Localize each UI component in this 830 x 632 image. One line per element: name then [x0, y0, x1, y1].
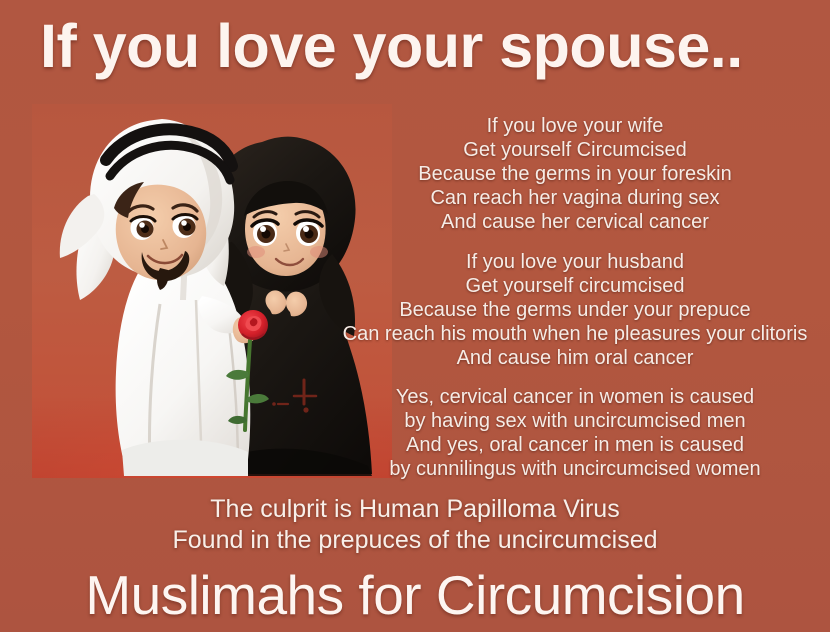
verse-line: If you love your wife: [340, 114, 810, 138]
footer-tagline: Muslimahs for Circumcision: [15, 562, 815, 628]
verse-line: Get yourself Circumcised: [340, 138, 810, 162]
woman-cheek-left: [247, 246, 265, 258]
verse-line: And cause him oral cancer: [340, 346, 810, 370]
verse-line: Because the germs under your prepuce: [340, 298, 810, 322]
closing-line: The culprit is Human Papilloma Virus: [15, 494, 815, 525]
couple-illustration-svg: [32, 104, 392, 478]
verse-line: by cunnilingus with uncircumcised women: [340, 457, 810, 481]
couple-illustration: [32, 104, 392, 478]
woman-eye-highlight-right: [303, 226, 309, 232]
verse-line: Can reach his mouth when he pleasures yo…: [340, 322, 810, 346]
verse-line: by having sex with uncircumcised men: [340, 409, 810, 433]
closing-statement: The culprit is Human Papilloma Virus Fou…: [15, 494, 815, 556]
verse-line: Can reach her vagina during sex: [340, 186, 810, 210]
verse-line: Yes, cervical cancer in women is caused: [340, 385, 810, 409]
closing-line: Found in the prepuces of the uncircumcis…: [15, 525, 815, 556]
verse-line: If you love your husband: [340, 250, 810, 274]
verse-line: Because the germs in your foreskin: [340, 162, 810, 186]
man-eye-highlight-left: [139, 222, 145, 228]
verse-wife: If you love your wife Get yourself Circu…: [340, 114, 810, 234]
poster-image: If you love your spouse..: [0, 0, 830, 632]
verse-husband: If you love your husband Get yourself ci…: [340, 250, 810, 370]
page-title: If you love your spouse..: [40, 8, 800, 84]
verse-line: Get yourself circumcised: [340, 274, 810, 298]
woman-eye-highlight-left: [260, 226, 266, 232]
woman-cheek-right: [310, 246, 328, 258]
verse-conclusion: Yes, cervical cancer in women is caused …: [340, 385, 810, 481]
man-eye-highlight-right: [181, 220, 187, 226]
verse-line: And cause her cervical cancer: [340, 210, 810, 234]
verse-line: And yes, oral cancer in men is caused: [340, 433, 810, 457]
